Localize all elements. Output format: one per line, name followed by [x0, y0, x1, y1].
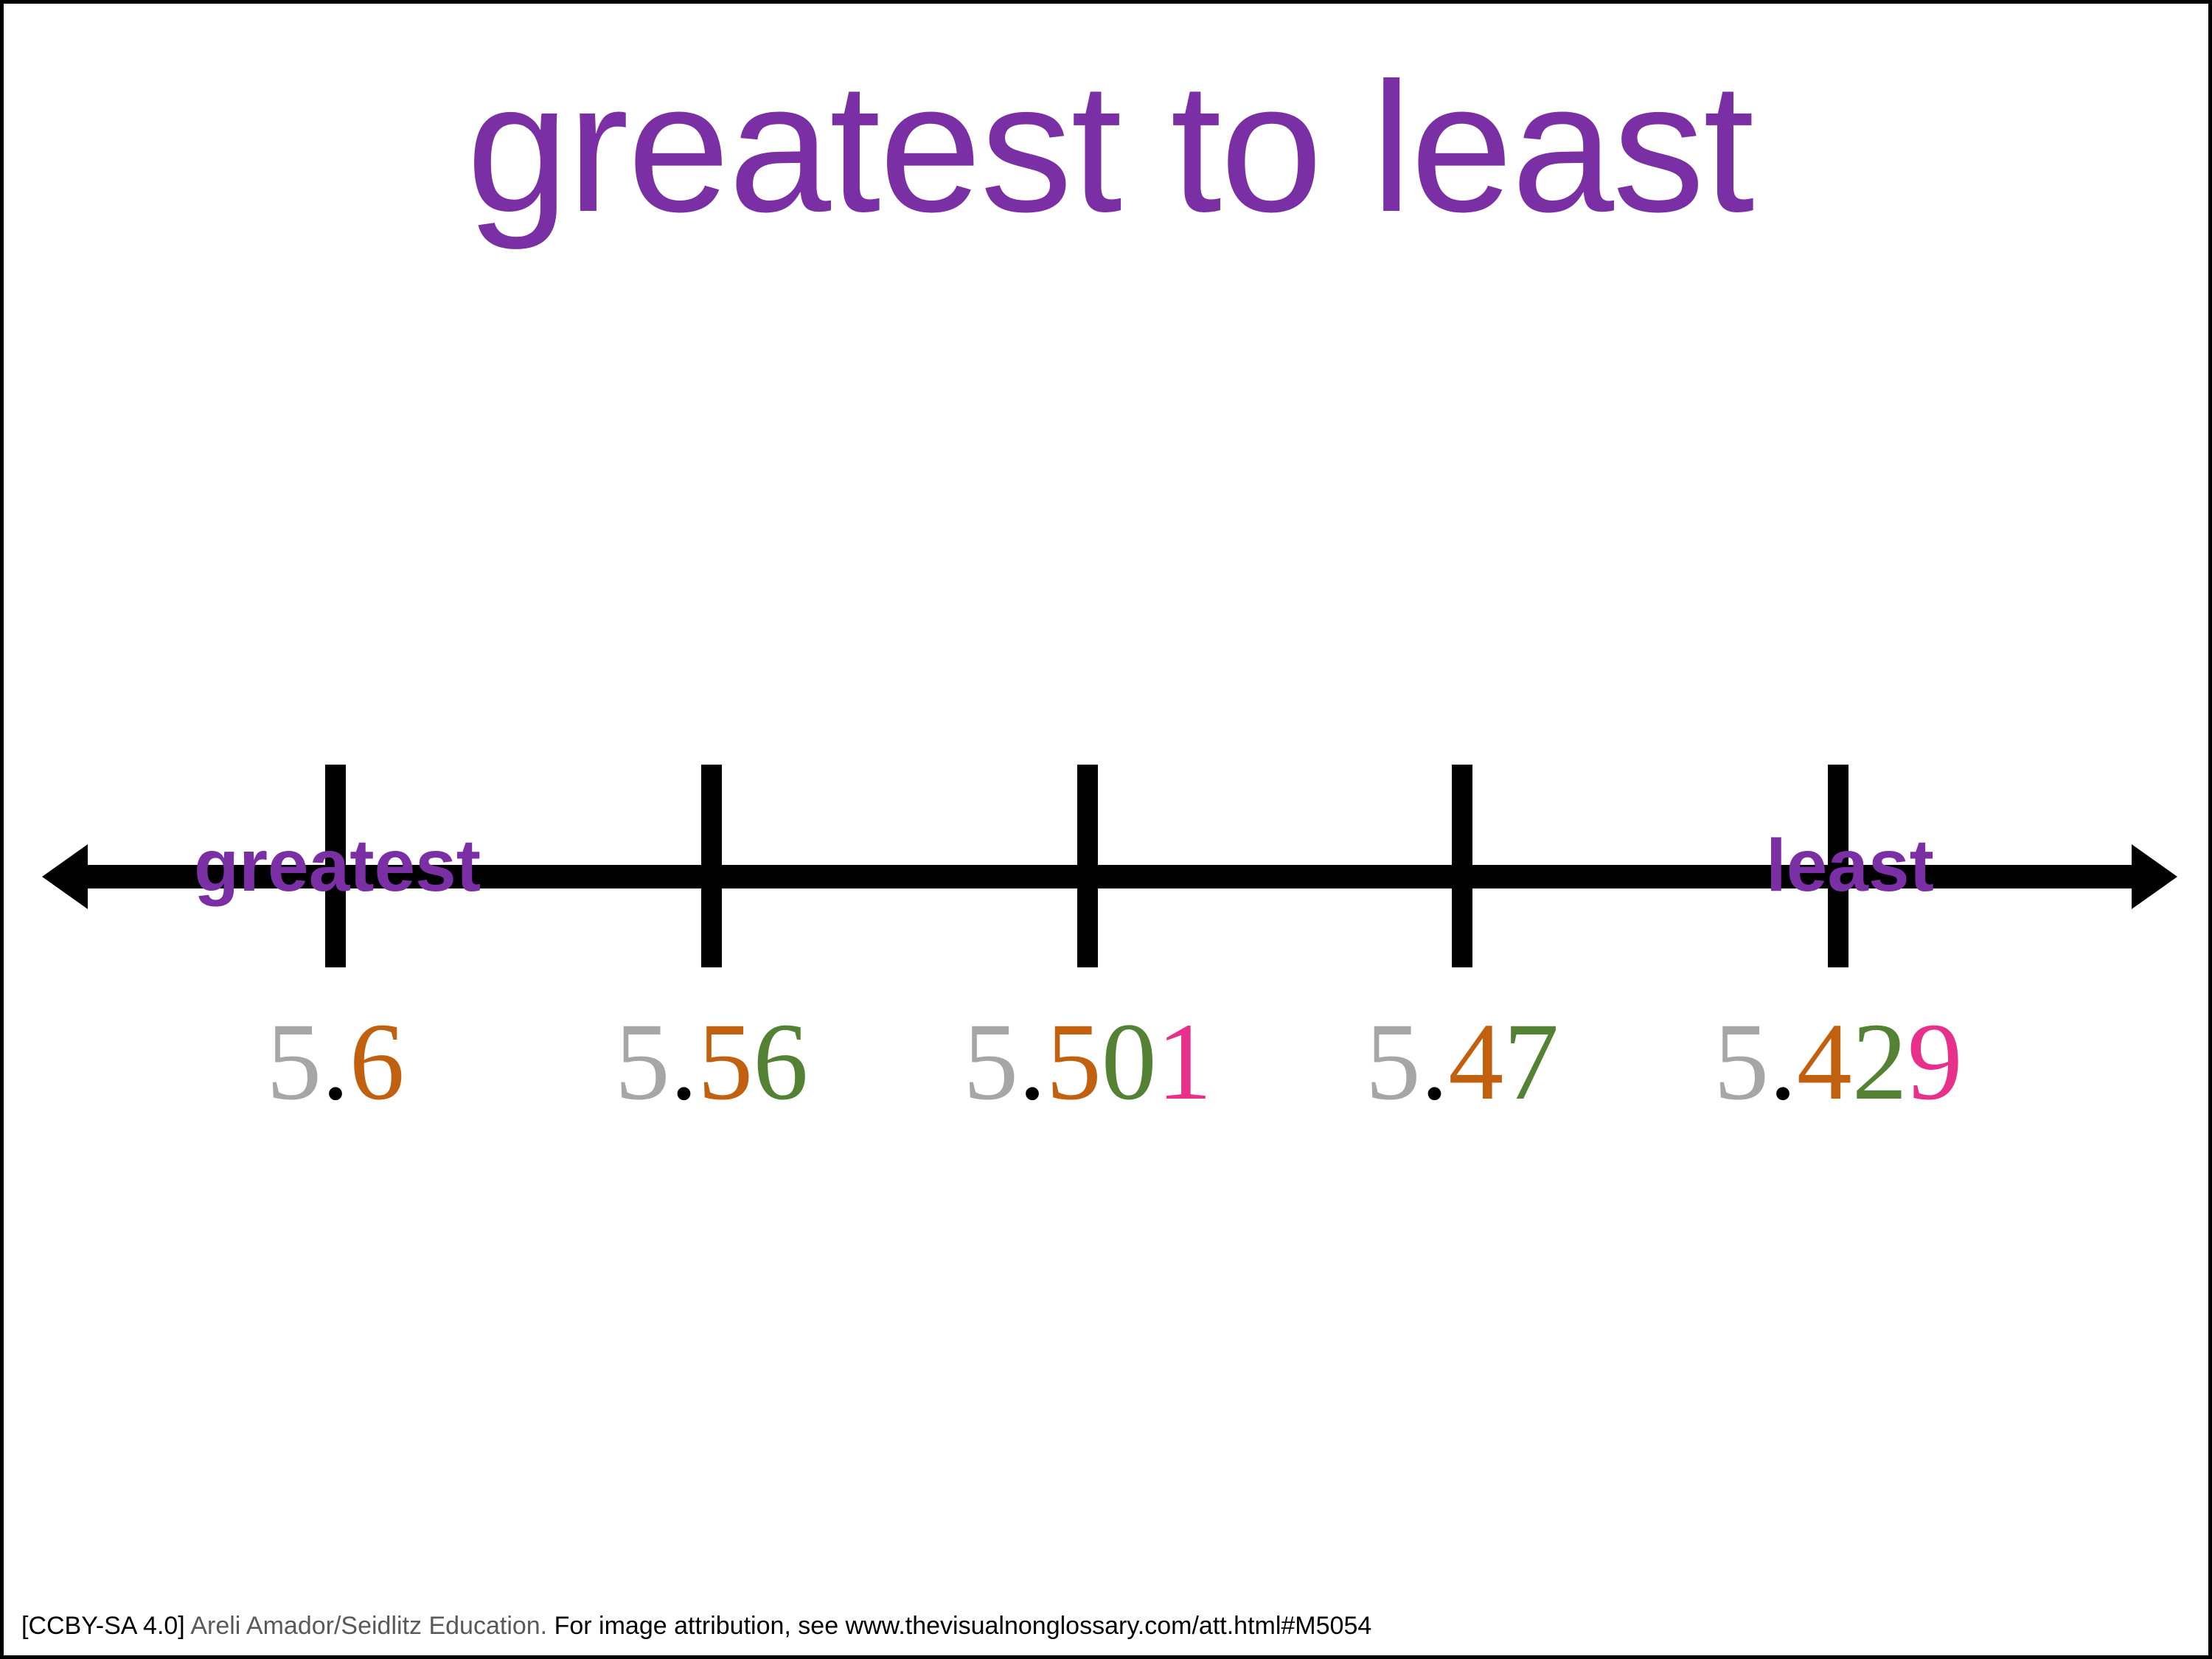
value-thousandths-digit: 9	[1907, 1001, 1963, 1123]
slide-canvas: greatest to least greatest least 5.6 5.5…	[0, 0, 2212, 1659]
arrow-right-icon	[2132, 844, 2177, 909]
value-label-3: 5.501	[963, 999, 1212, 1124]
value-label-4: 5.47	[1366, 999, 1559, 1124]
license-text: [CCBY-SA 4.0]	[21, 1612, 185, 1640]
arrow-left-icon	[42, 844, 88, 909]
value-tenths-digit: 4	[1797, 1001, 1852, 1123]
value-tenths-digit: 6	[349, 1001, 405, 1123]
value-decimal-point: .	[1421, 1001, 1449, 1123]
tick-mark-3	[1077, 765, 1098, 967]
number-line: greatest least	[4, 756, 2212, 999]
value-decimal-point: .	[1018, 1001, 1046, 1123]
tick-mark-2	[701, 765, 722, 967]
value-whole-part: 5	[266, 1001, 321, 1123]
value-hundredths-digit: 0	[1102, 1001, 1157, 1123]
value-whole-part: 5	[963, 1001, 1018, 1123]
tick-mark-4	[1452, 765, 1472, 967]
value-decimal-point: .	[321, 1001, 349, 1123]
value-label-2: 5.56	[615, 999, 809, 1124]
value-decimal-point: .	[1769, 1001, 1797, 1123]
value-label-5: 5.429	[1714, 999, 1963, 1124]
value-whole-part: 5	[615, 1001, 670, 1123]
value-whole-part: 5	[1714, 1001, 1769, 1123]
attribution-text: For image attribution, see www.thevisual…	[554, 1612, 1372, 1640]
value-hundredths-digit: 6	[753, 1001, 808, 1123]
value-hundredths-digit: 2	[1852, 1001, 1907, 1123]
value-whole-part: 5	[1366, 1001, 1421, 1123]
value-hundredths-digit: 7	[1503, 1001, 1559, 1123]
page-title: greatest to least	[4, 44, 2212, 251]
credit-text: Areli Amador/Seidlitz Education.	[190, 1612, 547, 1640]
value-tenths-digit: 5	[698, 1001, 753, 1123]
value-tenths-digit: 5	[1046, 1001, 1102, 1123]
value-labels: 5.6 5.56 5.501 5.47 5.429	[4, 999, 2212, 1147]
least-label: least	[1766, 825, 1934, 906]
attribution-footer: [CCBY-SA 4.0] Areli Amador/Seidlitz Educ…	[21, 1610, 1371, 1642]
value-label-1: 5.6	[266, 999, 405, 1124]
value-tenths-digit: 4	[1448, 1001, 1503, 1123]
value-decimal-point: .	[670, 1001, 698, 1123]
value-thousandths-digit: 1	[1157, 1001, 1212, 1123]
greatest-label: greatest	[194, 825, 481, 906]
